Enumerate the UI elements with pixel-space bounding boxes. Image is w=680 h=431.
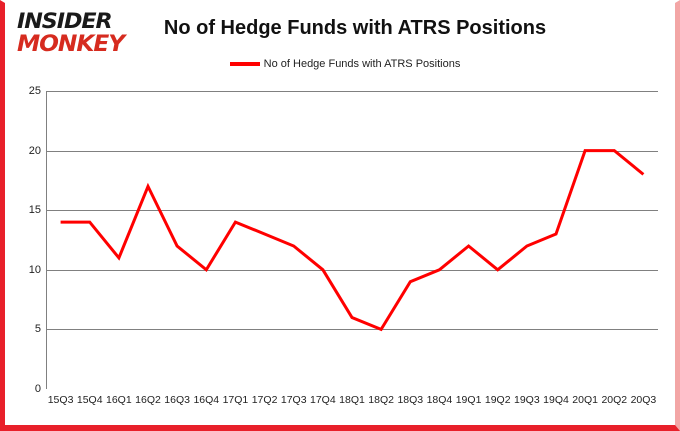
y-tick-label: 25 xyxy=(17,85,41,97)
y-tick-label: 15 xyxy=(17,204,41,216)
x-tick-label: 16Q3 xyxy=(164,394,190,406)
logo-line-monkey: MONKEY xyxy=(17,34,150,56)
chart-legend: No of Hedge Funds with ATRS Positions xyxy=(5,58,680,70)
x-tick-label: 18Q4 xyxy=(427,394,453,406)
x-tick-label: 16Q2 xyxy=(135,394,161,406)
logo-line-insider: INSIDER xyxy=(17,11,150,32)
x-tick-label: 19Q4 xyxy=(543,394,569,406)
y-tick-label: 20 xyxy=(17,145,41,157)
x-tick-label: 17Q3 xyxy=(281,394,307,406)
legend-swatch-icon xyxy=(230,62,260,66)
x-tick-label: 20Q3 xyxy=(631,394,657,406)
legend-label: No of Hedge Funds with ATRS Positions xyxy=(264,58,461,70)
x-tick-label: 16Q4 xyxy=(193,394,219,406)
x-tick-label: 18Q2 xyxy=(368,394,394,406)
y-axis-labels: 0510152025 xyxy=(13,91,41,389)
chart-frame: INSIDER MONKEY No of Hedge Funds with AT… xyxy=(0,0,680,431)
x-axis-labels: 15Q315Q416Q116Q216Q316Q417Q117Q217Q317Q4… xyxy=(46,394,658,418)
y-tick-label: 10 xyxy=(17,264,41,276)
x-tick-label: 17Q2 xyxy=(252,394,278,406)
line-chart-svg xyxy=(46,91,658,389)
x-tick-label: 15Q4 xyxy=(77,394,103,406)
x-tick-label: 16Q1 xyxy=(106,394,132,406)
data-series-line xyxy=(61,151,644,330)
x-tick-label: 19Q3 xyxy=(514,394,540,406)
x-tick-label: 17Q4 xyxy=(310,394,336,406)
x-tick-label: 15Q3 xyxy=(48,394,74,406)
x-tick-label: 20Q2 xyxy=(601,394,627,406)
plot-area xyxy=(46,91,658,389)
x-tick-label: 19Q1 xyxy=(456,394,482,406)
y-tick-label: 5 xyxy=(17,323,41,335)
x-tick-label: 20Q1 xyxy=(572,394,598,406)
gridlines xyxy=(46,92,658,390)
x-tick-label: 18Q1 xyxy=(339,394,365,406)
y-tick-label: 0 xyxy=(17,383,41,395)
insider-monkey-logo: INSIDER MONKEY xyxy=(17,11,142,59)
x-tick-label: 18Q3 xyxy=(397,394,423,406)
x-tick-label: 19Q2 xyxy=(485,394,511,406)
x-tick-label: 17Q1 xyxy=(223,394,249,406)
chart-title: No of Hedge Funds with ATRS Positions xyxy=(145,17,565,40)
